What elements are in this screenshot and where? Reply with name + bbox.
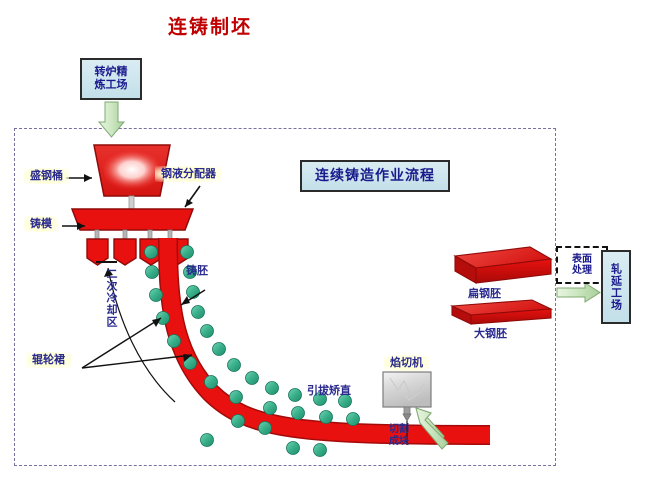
cut-line1: 切割成块 [389, 424, 409, 447]
label-tundish: 钢液分配器 [155, 166, 222, 182]
label-flat-slab: 扁钢胚 [468, 288, 501, 301]
converter-refining-workshop-box[interactable]: 转炉精炼工场 [80, 58, 142, 100]
tundish-icon [72, 209, 193, 239]
label-withdraw-straighten: 引拔矫直 [307, 385, 351, 398]
rolling-mill-workshop-box[interactable]: 轧延工场 [601, 250, 631, 324]
label-mold: 铸模 [24, 216, 58, 232]
right-arrow-icon [557, 283, 600, 302]
cast-strand [168, 238, 490, 435]
label-secondary-cooling-zone: 二次冷却区 [106, 268, 117, 328]
rolling-mill-label: 轧延工场 [611, 263, 622, 311]
continuous-casting-process-box[interactable]: 连续铸造作业流程 [300, 160, 450, 192]
bloom-icon [452, 300, 551, 324]
down-arrow-icon [99, 102, 124, 137]
leader-ladle [66, 174, 92, 182]
label-flame-cutter: 焰切机 [384, 355, 429, 371]
label-cast-billet: 铸胚 [186, 265, 208, 278]
page-title: 连铸制坯 [168, 12, 252, 39]
label-large-bloom: 大钢胚 [474, 328, 507, 341]
label-roller-skirt: 辊轮裙 [26, 352, 71, 368]
diagram-canvas: 连铸制坯 [0, 0, 645, 491]
slab-icon [455, 247, 551, 283]
leader-tundish [185, 186, 200, 207]
label-ladle: 盛钢桶 [24, 168, 69, 184]
label-cut-into-blocks: 切割成块 [389, 424, 409, 447]
